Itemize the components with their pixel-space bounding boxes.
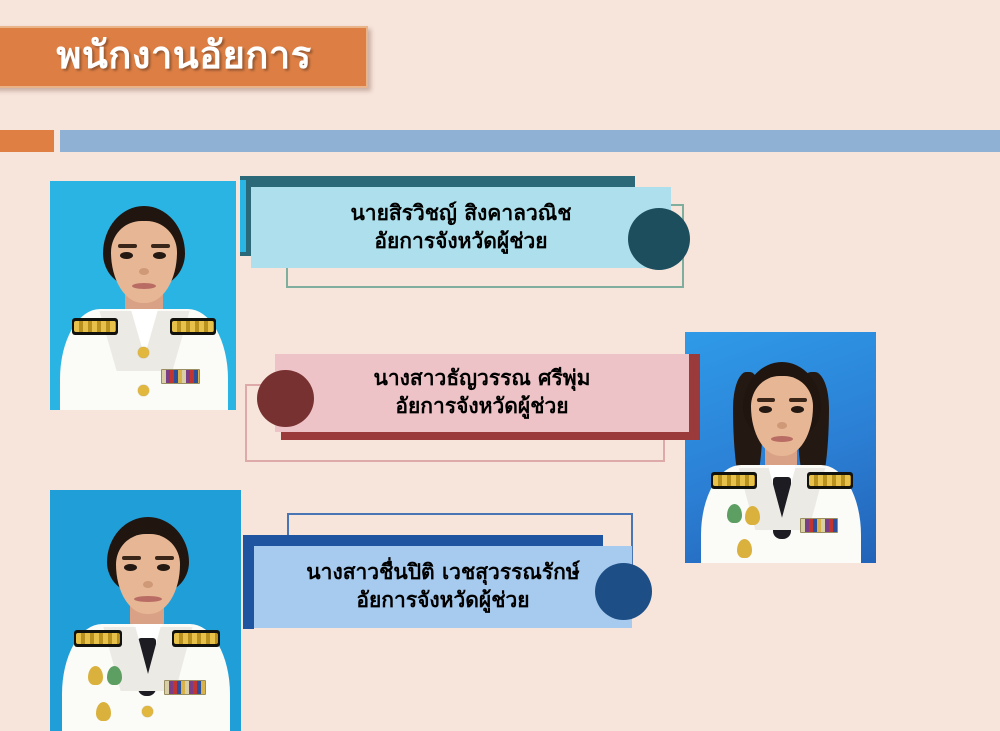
card-text-block: นางสาวธัญวรรณ ศรีพุ่ม อัยการจังหวัดผู้ช่… [275, 354, 689, 432]
card-text-block: นายสิรวิชญ์ สิงคาลวณิช อัยการจังหวัดผู้ช… [251, 187, 671, 268]
slide-title-banner: พนักงานอัยการ [0, 26, 368, 88]
person-photo-3 [50, 490, 241, 731]
person-name: นายสิรวิชญ์ สิงคาลวณิช [350, 200, 571, 228]
page-title: พนักงานอัยการ [46, 36, 311, 78]
person-position: อัยการจังหวัดผู้ช่วย [356, 587, 529, 615]
person-photo-1 [50, 181, 236, 410]
person-name: นางสาวชื่นปิติ เวชสุวรรณรักษ์ [306, 559, 579, 587]
person-position: อัยการจังหวัดผู้ช่วย [395, 393, 568, 421]
divider-bar-blue [60, 130, 1000, 152]
portrait-illustration [50, 490, 241, 731]
card-edge-accent [240, 180, 246, 252]
person-card-3: นางสาวชื่นปิติ เวชสุวรรณรักษ์ อัยการจังห… [243, 513, 663, 634]
portrait-illustration [50, 181, 236, 410]
person-card-1: นายสิรวิชญ์ สิงคาลวณิช อัยการจังหวัดผู้ช… [240, 176, 700, 288]
portrait-illustration [685, 332, 876, 563]
card-text-block: นางสาวชื่นปิติ เวชสุวรรณรักษ์ อัยการจังห… [254, 546, 632, 628]
slide-canvas: พนักงานอัยการ [0, 0, 1000, 731]
person-name: นางสาวธัญวรรณ ศรีพุ่ม [374, 365, 591, 393]
person-card-2: นางสาวธัญวรรณ ศรีพุ่ม อัยการจังหวัดผู้ช่… [245, 348, 700, 463]
person-photo-2 [685, 332, 876, 563]
divider-bar-orange [0, 130, 54, 152]
person-position: อัยการจังหวัดผู้ช่วย [374, 228, 547, 256]
